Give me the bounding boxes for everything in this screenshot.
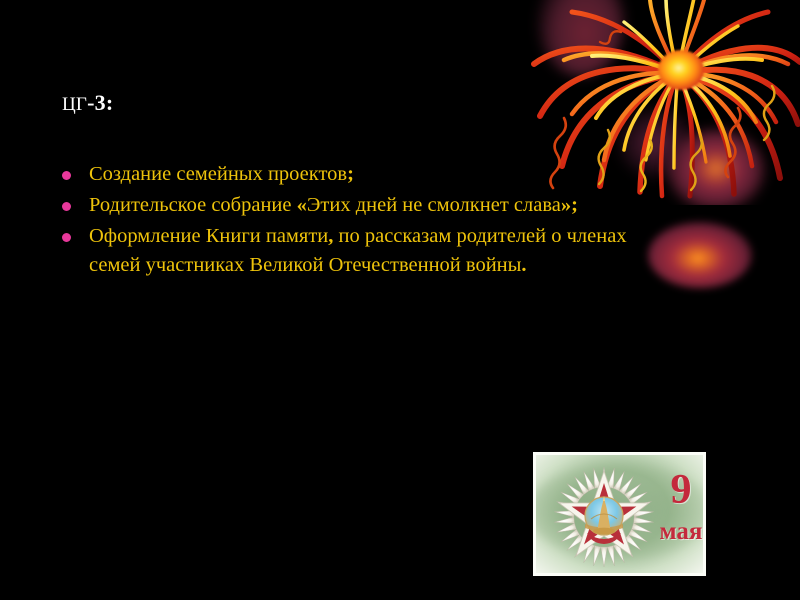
badge-day-number: 9 [654,469,706,511]
presentation-slide: ЦГ-3: Создание семейных проектов; Родите… [0,0,800,600]
list-item: Оформление Книги памяти, по рассказам ро… [56,222,666,280]
page-title: ЦГ-3: [62,90,113,116]
list-item: Создание семейных проектов; [56,160,666,189]
badge-text: 9 мая [654,469,706,544]
page-title-bold: -3: [87,90,113,115]
order-of-victory-star-medal-icon [548,461,660,573]
bullet-dot-icon [62,202,71,211]
bullet-list: Создание семейных проектов; Родительское… [56,160,666,282]
badge-month-label: мая [654,519,706,544]
bullet-dot-icon [62,233,71,242]
list-item-text: Оформление Книги памяти, по рассказам ро… [89,222,666,280]
bullet-dot-icon [62,171,71,180]
list-item-text: Родительское собрание «Этих дней не смол… [89,191,666,220]
firework-core [658,50,704,90]
victory-day-badge: 9 мая [533,452,706,576]
page-title-light: ЦГ [62,94,87,115]
firework-glow-blob-lower [668,130,764,205]
list-item-text: Создание семейных проектов; [89,160,666,189]
firework-glow-blob-upper-left [538,0,624,76]
list-item: Родительское собрание «Этих дней не смол… [56,191,666,220]
